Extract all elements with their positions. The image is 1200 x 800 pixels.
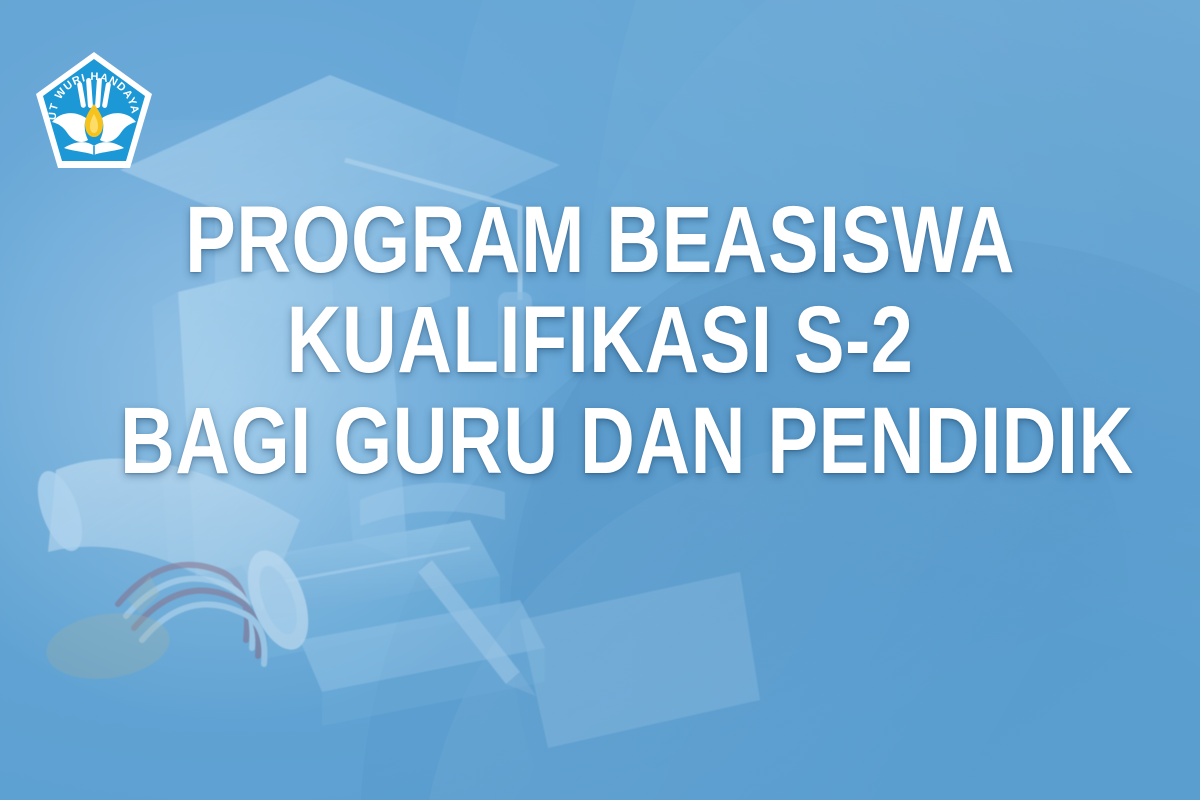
ribbon-art (118, 565, 265, 664)
headline-line-3: BAGI GURU DAN PENDIDIK (120, 397, 1080, 485)
medal-art (42, 576, 174, 686)
poster-canvas: TUT WURI HANDAYANI (0, 0, 1200, 800)
headline-line-1: PROGRAM BEASISWA (120, 196, 1080, 284)
paper-sheet-art (520, 572, 760, 748)
page-title: PROGRAM BEASISWA KUALIFIKASI S-2 BAGI GU… (0, 196, 1200, 485)
pen-art (418, 560, 536, 696)
headline-line-2: KUALIFIKASI S-2 (120, 296, 1080, 384)
tut-wuri-handayani-logo: TUT WURI HANDAYANI (30, 48, 158, 176)
background-swirl-bottom (420, 440, 1200, 800)
stacked-books-art (240, 520, 545, 726)
